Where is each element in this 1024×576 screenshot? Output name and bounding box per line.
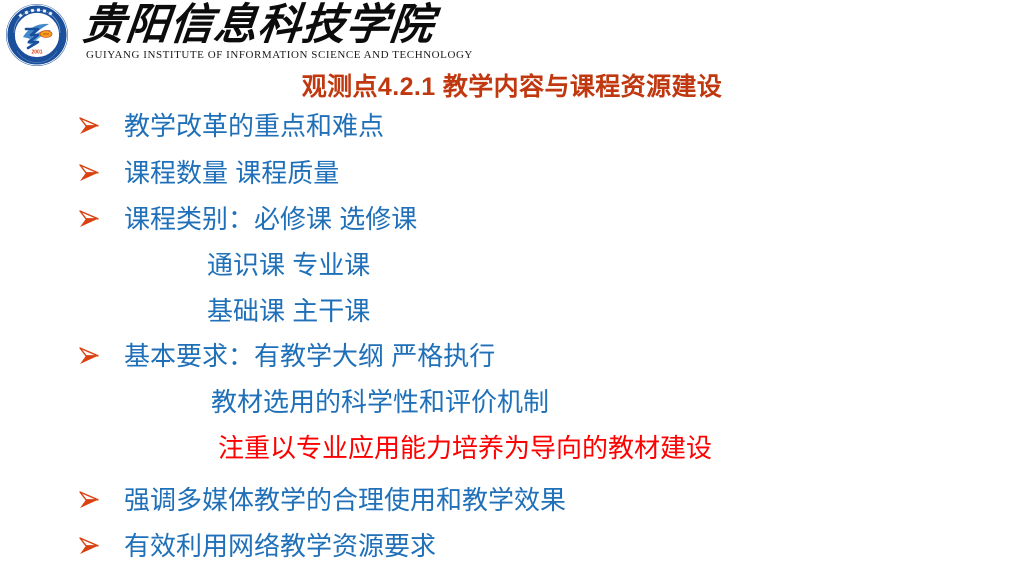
list-item-label: 基础课 主干课	[0, 295, 1024, 327]
slide-header: 2001 贵阳信息科技学院 GUIYANG INSTITUTE OF INFOR…	[0, 0, 1024, 70]
brand-subtitle: GUIYANG INSTITUTE OF INFORMATION SCIENCE…	[86, 48, 408, 62]
page-title: 观测点4.2.1 教学内容与课程资源建设	[0, 72, 1024, 102]
arrow-bullet-icon	[76, 160, 102, 186]
list-item: 通识课 专业课	[0, 249, 1024, 281]
list-item: 基本要求：有教学大纲 严格执行	[0, 340, 1024, 372]
list-item: 基础课 主干课	[0, 295, 1024, 327]
list-item: 课程类别：必修课 选修课	[0, 203, 1024, 235]
list-item-label: 基本要求：有教学大纲 严格执行	[0, 340, 1024, 372]
list-item: 教材选用的科学性和评价机制	[0, 386, 1024, 418]
list-item-label: 通识课 专业课	[0, 249, 1024, 281]
arrow-bullet-icon	[76, 113, 102, 139]
brand-wordmark: 贵阳信息科技学院	[79, 2, 414, 50]
list-item: 注重以专业应用能力培养为导向的教材建设	[0, 432, 1024, 464]
list-item: 强调多媒体教学的合理使用和教学效果	[0, 484, 1024, 516]
list-item: 有效利用网络教学资源要求	[0, 530, 1024, 562]
logo-badge-year: 2001	[31, 50, 42, 56]
arrow-bullet-icon	[76, 533, 102, 559]
arrow-bullet-icon	[76, 206, 102, 232]
list-item-label: 有效利用网络教学资源要求	[0, 530, 1024, 562]
list-item-label: 教学改革的重点和难点	[0, 110, 1024, 142]
content-list: 教学改革的重点和难点课程数量 课程质量课程类别：必修课 选修课通识课 专业课基础…	[0, 104, 1024, 576]
list-item-label: 课程数量 课程质量	[0, 157, 1024, 189]
arrow-bullet-icon	[76, 487, 102, 513]
list-item-label: 强调多媒体教学的合理使用和教学效果	[0, 484, 1024, 516]
guiyang-institute-emblem-icon: 2001	[5, 3, 69, 67]
arrow-bullet-icon	[76, 343, 102, 369]
list-item-label: 注重以专业应用能力培养为导向的教材建设	[0, 432, 1024, 464]
list-item-label: 教材选用的科学性和评价机制	[0, 386, 1024, 418]
list-item: 课程数量 课程质量	[0, 157, 1024, 189]
list-item: 教学改革的重点和难点	[0, 110, 1024, 142]
list-item-label: 课程类别：必修课 选修课	[0, 203, 1024, 235]
